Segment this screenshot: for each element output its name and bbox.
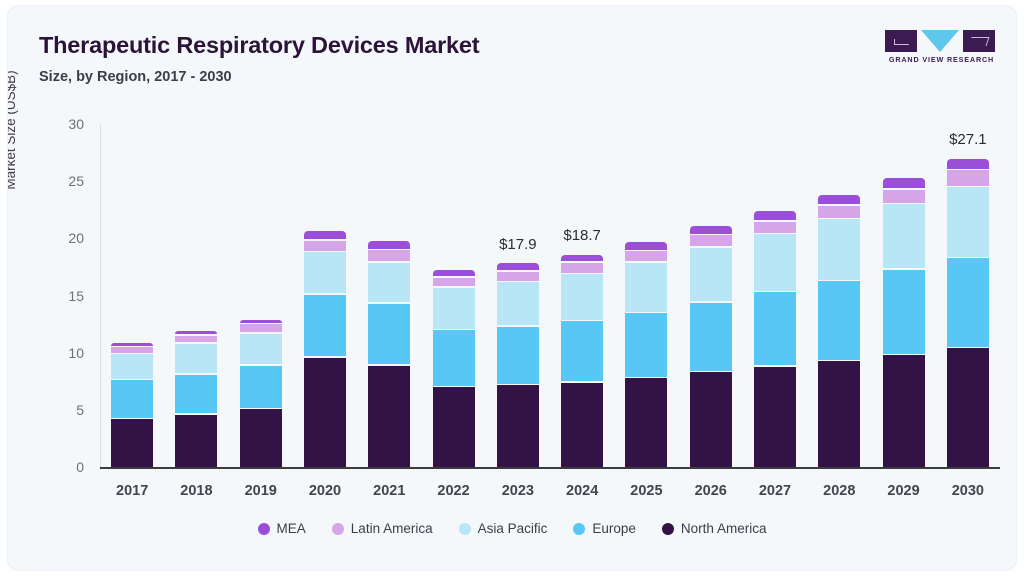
legend-label: Latin America <box>351 521 433 536</box>
bar-segment-asia-pacific[interactable] <box>368 263 410 303</box>
bar-segment-north-america[interactable] <box>947 348 989 467</box>
logo-wordmark: GRAND VIEW RESEARCH <box>885 55 998 64</box>
bar-stack-2018[interactable] <box>175 124 217 467</box>
legend-item-europe[interactable]: Europe <box>573 521 636 536</box>
bar-segment-europe[interactable] <box>690 303 732 371</box>
bar-segment-latin-america[interactable] <box>497 272 539 281</box>
bar-segment-north-america[interactable] <box>497 385 539 467</box>
bar-stack-2030[interactable] <box>947 124 989 467</box>
bar-segment-north-america[interactable] <box>754 367 796 467</box>
bar-segment-mea[interactable] <box>754 211 796 220</box>
bar-segment-europe[interactable] <box>625 313 667 377</box>
page-title: Therapeutic Respiratory Devices Market <box>39 32 479 59</box>
bar-segment-asia-pacific[interactable] <box>947 187 989 256</box>
legend-item-latin-america[interactable]: Latin America <box>332 521 433 536</box>
y-axis-ticks: 051015202530 <box>40 124 84 467</box>
legend-swatch-icon <box>332 523 344 535</box>
bar-segment-europe[interactable] <box>561 321 603 381</box>
bar-segment-latin-america[interactable] <box>625 251 667 261</box>
bar-segment-asia-pacific[interactable] <box>818 219 860 279</box>
bar-stack-2022[interactable] <box>433 124 475 467</box>
legend-item-asia-pacific[interactable]: Asia Pacific <box>459 521 548 536</box>
bar-segment-north-america[interactable] <box>561 383 603 467</box>
bar-segment-europe[interactable] <box>111 380 153 417</box>
bar-segment-asia-pacific[interactable] <box>175 344 217 373</box>
bar-segment-europe[interactable] <box>754 292 796 365</box>
bar-segment-asia-pacific[interactable] <box>754 234 796 291</box>
bar-value-label: $27.1 <box>923 131 1013 148</box>
legend-label: MEA <box>277 521 306 536</box>
legend-label: North America <box>681 521 767 536</box>
bar-segment-latin-america[interactable] <box>947 170 989 186</box>
bar-segment-latin-america[interactable] <box>754 222 796 233</box>
x-axis-line <box>100 467 1000 469</box>
bar-segment-mea[interactable] <box>304 231 346 240</box>
bar-segment-asia-pacific[interactable] <box>883 204 925 268</box>
legend-swatch-icon <box>459 523 471 535</box>
bar-stack-2028[interactable] <box>818 124 860 467</box>
bar-segment-north-america[interactable] <box>304 358 346 467</box>
bar-segment-asia-pacific[interactable] <box>690 248 732 301</box>
bar-segment-asia-pacific[interactable] <box>304 252 346 293</box>
bar-stack-2026[interactable] <box>690 124 732 467</box>
bar-segment-north-america[interactable] <box>690 372 732 467</box>
bar-segment-north-america[interactable] <box>818 361 860 467</box>
legend-swatch-icon <box>662 523 674 535</box>
bar-segment-asia-pacific[interactable] <box>497 282 539 325</box>
y-axis-tick-label: 5 <box>44 402 84 418</box>
bar-segment-latin-america[interactable] <box>368 250 410 261</box>
bar-stack-2021[interactable] <box>368 124 410 467</box>
bar-segment-europe[interactable] <box>304 295 346 356</box>
legend-swatch-icon <box>573 523 585 535</box>
bar-segment-latin-america[interactable] <box>433 278 475 287</box>
bar-segment-asia-pacific[interactable] <box>561 274 603 319</box>
grand-view-research-logo: GRAND VIEW RESEARCH <box>885 30 998 66</box>
bar-stack-2019[interactable] <box>240 124 282 467</box>
plot-area <box>100 124 1000 467</box>
bar-stack-2020[interactable] <box>304 124 346 467</box>
chart-card: Therapeutic Respiratory Devices Market S… <box>8 6 1016 570</box>
bar-segment-mea[interactable] <box>433 270 475 277</box>
bar-value-label: $18.7 <box>537 227 627 244</box>
logo-g-glyph <box>885 30 917 52</box>
bar-segment-latin-america[interactable] <box>240 324 282 332</box>
bar-segment-asia-pacific[interactable] <box>433 288 475 329</box>
bar-stack-2027[interactable] <box>754 124 796 467</box>
bar-segment-latin-america[interactable] <box>690 235 732 246</box>
legend-label: Europe <box>592 521 636 536</box>
bar-stack-2023[interactable] <box>497 124 539 467</box>
y-axis-tick-label: 30 <box>44 116 84 132</box>
bar-segment-mea[interactable] <box>497 263 539 271</box>
bar-segment-north-america[interactable] <box>625 378 667 467</box>
bar-segment-asia-pacific[interactable] <box>111 354 153 379</box>
bar-segment-mea[interactable] <box>690 226 732 234</box>
bar-segment-mea[interactable] <box>561 255 603 262</box>
chart-legend: MEALatin AmericaAsia PacificEuropeNorth … <box>8 521 1016 536</box>
bar-stack-2029[interactable] <box>883 124 925 467</box>
page-subtitle: Size, by Region, 2017 - 2030 <box>39 69 232 85</box>
legend-label: Asia Pacific <box>478 521 548 536</box>
bar-segment-mea[interactable] <box>625 242 667 250</box>
bar-segment-mea[interactable] <box>818 195 860 204</box>
bar-segment-latin-america[interactable] <box>883 190 925 203</box>
bar-segment-europe[interactable] <box>240 366 282 408</box>
bar-segment-north-america[interactable] <box>883 355 925 467</box>
bar-segment-mea[interactable] <box>368 241 410 249</box>
bar-stack-2024[interactable] <box>561 124 603 467</box>
bar-segment-north-america[interactable] <box>175 415 217 467</box>
bar-segment-asia-pacific[interactable] <box>240 334 282 365</box>
y-axis-tick-label: 25 <box>44 173 84 189</box>
bar-segment-north-america[interactable] <box>368 366 410 467</box>
logo-r-glyph <box>963 30 995 52</box>
legend-item-north-america[interactable]: North America <box>662 521 767 536</box>
bar-segment-latin-america[interactable] <box>561 263 603 273</box>
bar-segment-mea[interactable] <box>175 331 217 334</box>
bar-segment-europe[interactable] <box>368 304 410 364</box>
bar-segment-mea[interactable] <box>111 343 153 346</box>
legend-item-mea[interactable]: MEA <box>258 521 306 536</box>
bar-segment-latin-america[interactable] <box>111 347 153 352</box>
bar-segment-latin-america[interactable] <box>175 336 217 343</box>
x-axis-tick-label: 2030 <box>928 483 1008 499</box>
y-axis-tick-label: 10 <box>44 345 84 361</box>
logo-v-glyph <box>921 30 959 52</box>
bar-stack-2025[interactable] <box>625 124 667 467</box>
legend-swatch-icon <box>258 523 270 535</box>
bar-segment-europe[interactable] <box>497 327 539 384</box>
bar-stack-2017[interactable] <box>111 124 153 467</box>
bar-segment-latin-america[interactable] <box>818 206 860 218</box>
bar-segment-latin-america[interactable] <box>304 241 346 251</box>
bar-segment-north-america[interactable] <box>111 419 153 467</box>
bar-segment-mea[interactable] <box>947 159 989 169</box>
bar-segment-europe[interactable] <box>818 281 860 360</box>
bar-segment-mea[interactable] <box>883 178 925 188</box>
bar-segment-europe[interactable] <box>175 375 217 414</box>
y-axis-tick-label: 20 <box>44 230 84 246</box>
y-axis-tick-label: 0 <box>44 459 84 475</box>
bar-segment-europe[interactable] <box>433 330 475 386</box>
bar-segment-mea[interactable] <box>240 320 282 323</box>
bar-segment-europe[interactable] <box>947 258 989 347</box>
y-axis-title: Market Size (US$B) <box>8 30 18 230</box>
bar-segment-asia-pacific[interactable] <box>625 263 667 312</box>
bar-segment-europe[interactable] <box>883 270 925 354</box>
bar-segment-north-america[interactable] <box>240 409 282 467</box>
y-axis-tick-label: 15 <box>44 288 84 304</box>
bar-segment-north-america[interactable] <box>433 387 475 467</box>
